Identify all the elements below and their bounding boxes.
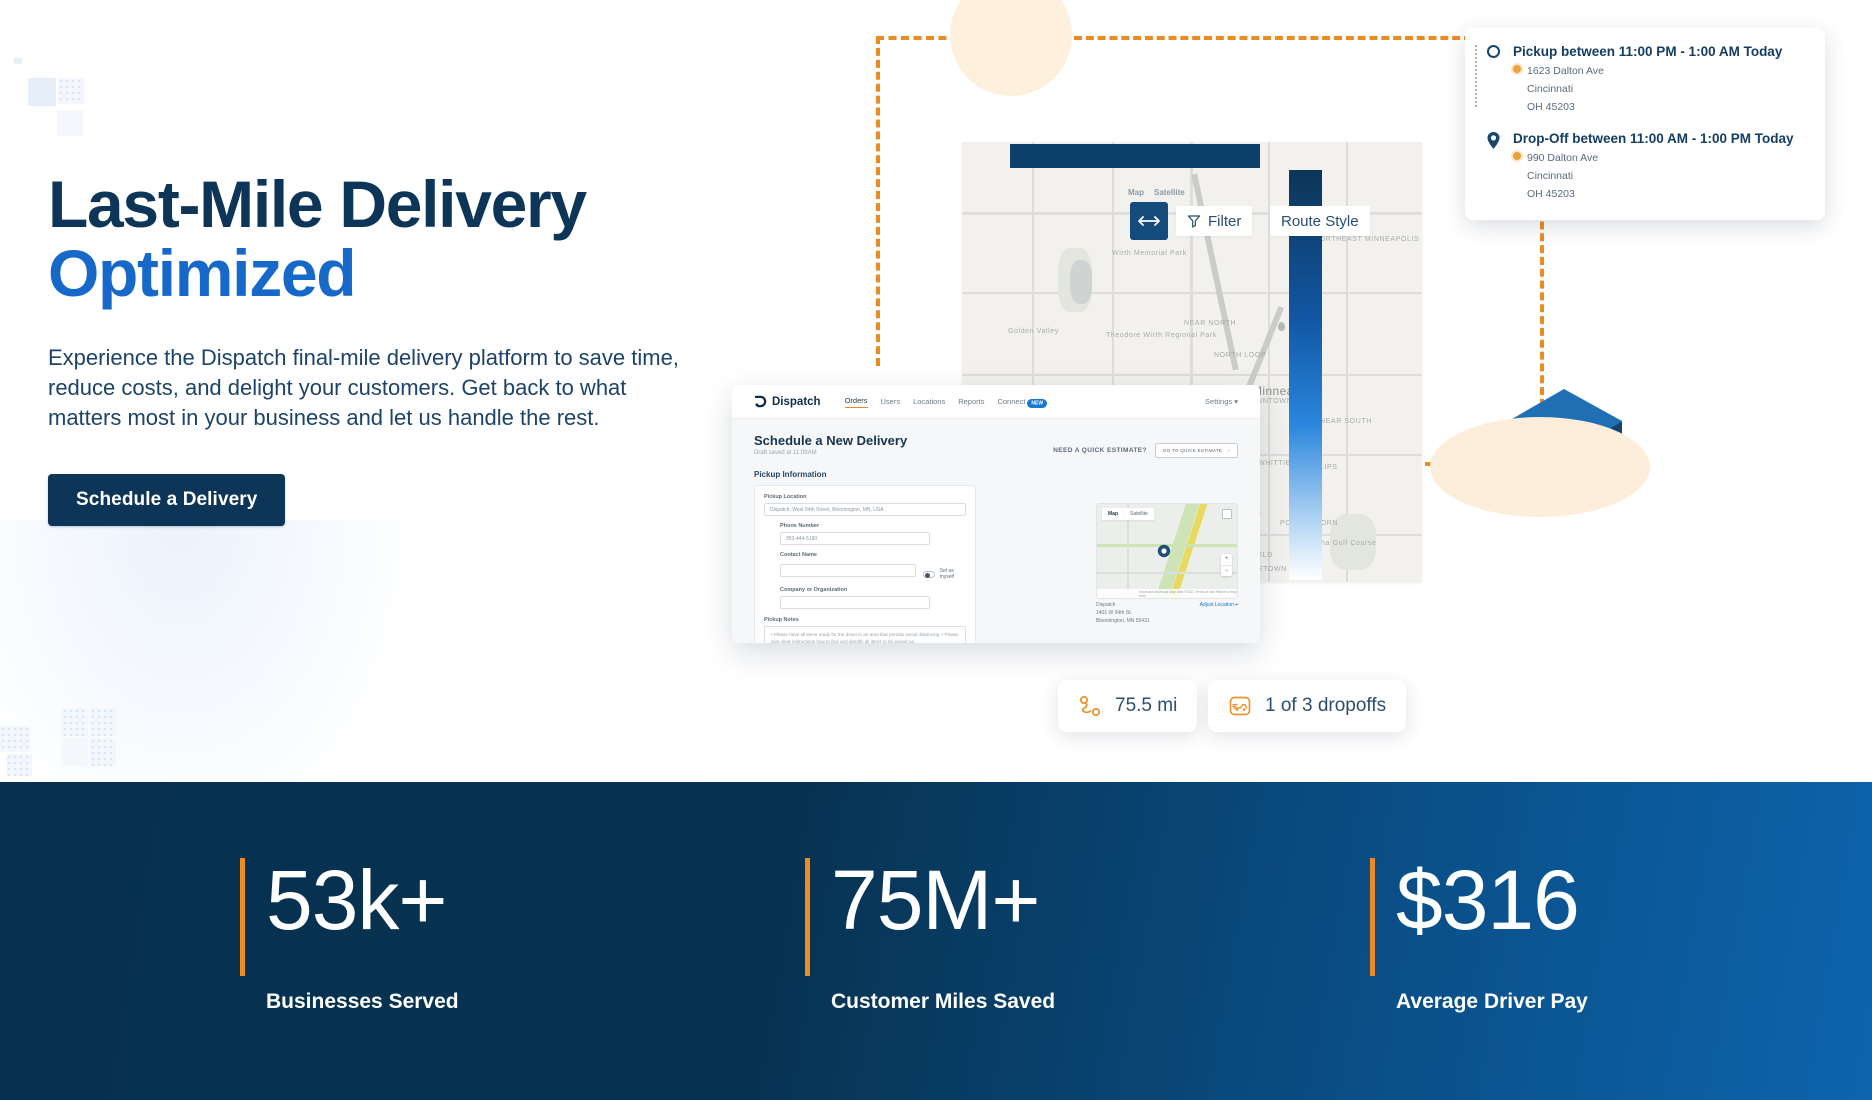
company-label: Company or Organization [780,587,966,593]
hero-section: Last-Mile Delivery Optimized Experience … [0,0,1872,782]
set-as-myself-label: Set as myself [940,568,966,580]
pickup-notes-label: Pickup Notes [764,617,966,623]
app-nav-links: Orders Users Locations Reports ConnectNE… [845,396,1048,408]
filter-icon [1187,214,1201,228]
minimap-location-marker-icon [1157,544,1171,558]
contact-name-input[interactable] [780,564,916,577]
map-base-toggle[interactable]: Map Satellite [1128,188,1185,197]
stat-accent-bar [240,858,245,976]
stat-label: Average Driver Pay [1396,990,1588,1014]
minimap-zoom-in-button[interactable]: + [1221,554,1232,565]
pickup-information-heading: Pickup Information [754,470,1238,479]
company-group: Company or Organization [780,587,966,609]
stat-label: Customer Miles Saved [831,990,1055,1014]
truck-backdrop [1430,417,1650,517]
map-area-label: NEAR NORTH [1184,320,1236,327]
pickup-circle-icon [1487,45,1500,58]
headline-line-2: Optimized [48,239,848,308]
deco-square [90,708,116,736]
deco-square [57,110,83,136]
pickup-street: 1623 Dalton Ave [1527,65,1604,77]
nav-item-users[interactable]: Users [881,397,901,406]
dropoff-street: 990 Dalton Ave [1527,152,1598,164]
hero-subtext: Experience the Dispatch final-mile deliv… [48,343,688,432]
minimap-base-toggle[interactable]: Map Satellite [1102,508,1154,520]
pickup-address-line-2: Cincinnati [1513,81,1807,97]
dispatch-logo[interactable]: Dispatch [754,395,821,408]
map-area-label: NEAR SOUTH [1320,418,1372,425]
minimap-fullscreen-button[interactable] [1222,509,1232,519]
decorative-squares-bottom [0,682,150,782]
dropoffs-label: 1 of 3 dropoffs [1265,695,1386,717]
minimap-address-line-1: 1401 W 94th St, [1096,609,1238,617]
connect-new-badge: NEW [1027,399,1047,408]
company-input[interactable] [780,596,930,609]
dropoff-address-line-1: 990 Dalton Ave [1513,150,1807,166]
pickup-address-line-3: OH 45203 [1513,99,1807,115]
minimap-map-option[interactable]: Map [1102,508,1124,520]
nav-item-connect[interactable]: ConnectNEW [997,397,1047,406]
contact-group: Contact Name Set as myself [780,552,966,580]
notes-group: Pickup Notes • Please have all items rea… [764,617,966,643]
deco-square [58,78,84,104]
pickup-notes-textarea[interactable]: • Please have all items ready for the dr… [764,626,966,643]
stat-accent-bar [805,858,810,976]
expand-arrows-icon [1138,215,1160,227]
route-style-button[interactable]: Route Style [1270,206,1370,236]
stat-value: 53k+ [266,858,459,942]
dropoffs-badge: 1 of 3 dropoffs [1208,680,1406,732]
go-to-quick-estimate-button[interactable]: GO TO QUICK ESTIMATE › [1155,443,1238,458]
address-marker-icon [1513,152,1521,160]
distance-badge: 75.5 mi [1058,680,1197,732]
pickup-title: Pickup between 11:00 PM - 1:00 AM Today [1513,44,1807,61]
map-river [1191,174,1238,371]
stat-businesses-served: 53k+ Businesses Served [240,858,459,1014]
hero-copy: Last-Mile Delivery Optimized Experience … [48,170,848,526]
pickup-form-card: Pickup Location Dispatch, West 94th Stre… [754,485,976,643]
stat-label: Businesses Served [266,990,459,1014]
deco-square [14,58,22,64]
schedule-delivery-button[interactable]: Schedule a Delivery [48,474,285,526]
chevron-right-icon: › [1228,448,1230,453]
map-area-label: Theodore Wirth Regional Park [1106,332,1217,339]
phone-input[interactable]: 952-444-5180 [780,532,930,545]
stat-value: $316 [1396,858,1588,942]
package-illustration [950,0,1072,96]
dispatch-logo-text: Dispatch [772,396,821,408]
map-area-label: NORTHEAST MINNEAPOLIS [1314,236,1419,243]
minimap-satellite-option[interactable]: Satellite [1124,508,1154,520]
deco-square [62,708,88,736]
route-icon [1078,694,1102,718]
map-pin [1278,322,1285,331]
delivery-truck-icon [1228,694,1252,718]
pickup-address-line-1: 1623 Dalton Ave [1513,63,1807,79]
map-toggle-satellite[interactable]: Satellite [1154,188,1185,197]
phone-group: Phone Number 952-444-5180 [780,523,966,545]
dropoff-address-line-3: OH 45203 [1513,186,1807,202]
pickup-location-label: Pickup Location [764,494,966,500]
phone-label: Phone Number [780,523,966,529]
nav-item-orders[interactable]: Orders [845,396,868,408]
route-style-label: Route Style [1281,213,1359,230]
pickup-location-input[interactable]: Dispatch, West 94th Street, Bloomington,… [764,503,966,516]
hero-visual: Minneapolis NORTHEAST MINNEAPOLIS NEAR N… [840,0,1872,782]
expand-map-button[interactable] [1130,202,1168,240]
route-dash-left-vertical [876,36,880,366]
contact-name-label: Contact Name [780,552,966,558]
stat-value: 75M+ [831,858,1055,942]
pickup-location-minimap[interactable]: Map Satellite + − Keyboard shortcuts [1096,503,1238,599]
app-navbar: Dispatch Orders Users Locations Reports … [732,385,1260,419]
adjust-location-link[interactable]: Adjust Location ⌖ [1200,601,1238,609]
dropoff-address-line-2: Cincinnati [1513,168,1807,184]
stop-connector-line [1475,45,1477,107]
map-area-label: Wirth Memorial Park [1112,250,1187,257]
map-toggle-map[interactable]: Map [1128,188,1144,197]
nav-item-locations[interactable]: Locations [913,397,945,406]
map-water [1070,260,1092,304]
nav-item-reports[interactable]: Reports [958,397,984,406]
stats-bar: 53k+ Businesses Served 75M+ Customer Mil… [0,782,1872,1100]
dropoff-stop: Drop-Off between 11:00 AM - 1:00 PM Toda… [1483,131,1807,203]
stat-accent-bar [1370,858,1375,976]
minimap-address-line-2: Bloomington, MN 55431 [1096,617,1238,625]
deco-square [6,754,32,776]
delivery-truck-illustration [1430,375,1650,520]
deco-square [28,78,56,106]
quick-estimate-button-label: GO TO QUICK ESTIMATE [1163,448,1222,453]
pickup-stop: Pickup between 11:00 PM - 1:00 AM Today … [1483,44,1807,116]
settings-menu[interactable]: Settings ▾ [1205,397,1238,406]
nav-connect-label: Connect [997,397,1025,406]
dispatch-app-window[interactable]: Dispatch Orders Users Locations Reports … [732,385,1260,643]
quick-estimate-prompt: NEED A QUICK ESTIMATE? [1053,447,1147,454]
toggle-switch-icon [923,571,935,578]
adjust-location-label: Adjust Location [1200,602,1234,608]
quick-estimate-area: NEED A QUICK ESTIMATE? GO TO QUICK ESTIM… [1053,443,1238,458]
set-as-myself-toggle[interactable]: Set as myself [923,568,966,580]
minimap-road [1097,572,1238,574]
distance-label: 75.5 mi [1115,695,1177,717]
minimap-attribution: Keyboard shortcuts Map data ©2021 Terms … [1097,589,1237,598]
map-window-titlebar [1010,144,1260,168]
page-title: Last-Mile Delivery Optimized [48,170,848,307]
decorative-squares-top [14,62,124,172]
settings-label: Settings [1205,397,1232,406]
landing-page: Last-Mile Delivery Optimized Experience … [0,0,1872,1100]
stat-average-driver-pay: $316 Average Driver Pay [1370,858,1588,1014]
map-area-label: Golden Valley [1008,328,1059,335]
minimap-zoom-controls[interactable]: + − [1221,554,1232,576]
stat-customer-miles-saved: 75M+ Customer Miles Saved [805,858,1055,1014]
address-marker-icon [1513,65,1521,73]
dropoff-title: Drop-Off between 11:00 AM - 1:00 PM Toda… [1513,131,1807,148]
minimap-address-block: Adjust Location ⌖ Dispatch 1401 W 94th S… [1096,601,1238,625]
deco-square [90,738,116,766]
minimap-zoom-out-button[interactable]: − [1221,565,1232,576]
stops-tooltip-card: Pickup between 11:00 PM - 1:00 AM Today … [1465,28,1825,220]
dropoff-pin-icon [1486,131,1501,150]
map-area-label: NORTH LOOP [1214,352,1266,359]
app-content: Schedule a New Delivery Draft saved at 1… [732,419,1260,643]
dispatch-logo-icon [754,395,767,408]
route-dash-top-right [1074,36,1472,40]
headline-line-1: Last-Mile Delivery [48,167,586,241]
deco-square [0,726,30,752]
filter-button[interactable]: Filter [1176,206,1252,236]
filter-label: Filter [1208,213,1241,230]
deco-square [62,738,88,766]
